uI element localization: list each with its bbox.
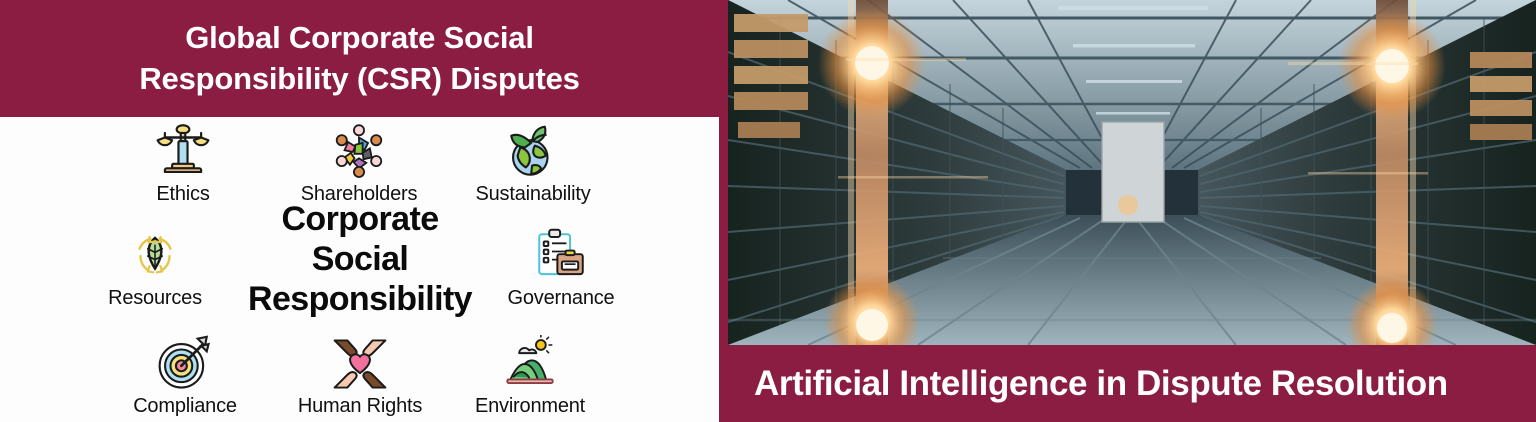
csr-center-line-3: Responsibility: [205, 279, 515, 319]
hills-sun-icon: [455, 335, 605, 393]
csr-node-resources: Resources: [80, 227, 230, 310]
csr-node-label: Sustainability: [458, 183, 608, 206]
csr-node-label: Shareholders: [284, 183, 434, 206]
csr-node-governance: Governance: [486, 227, 636, 310]
ai-title-banner: Artificial Intelligence in Dispute Resol…: [738, 345, 1536, 422]
csr-node-label: Compliance: [110, 395, 260, 418]
globe-leaf-icon: [458, 123, 608, 181]
csr-node-label: Resources: [80, 287, 230, 310]
csr-title-line-2: Responsibility (CSR) Disputes: [139, 61, 579, 96]
csr-center-label: Corporate Social Responsibility: [205, 199, 515, 319]
csr-node-sustainability: Sustainability: [458, 123, 608, 206]
csr-node-ethics: Ethics: [108, 123, 258, 206]
csr-node-compliance: Compliance: [110, 335, 260, 418]
csr-center-line-2: Social: [205, 239, 515, 279]
ai-panel: Artificial Intelligence in Dispute Resol…: [719, 0, 1536, 422]
csr-node-label: Ethics: [108, 183, 258, 206]
csr-title-banner: Global Corporate Social Responsibility (…: [0, 0, 719, 117]
target-arrow-icon: [110, 335, 260, 393]
csr-title: Global Corporate Social Responsibility (…: [125, 18, 593, 100]
csr-node-environment: Environment: [455, 335, 605, 418]
balance-scale-icon: [108, 123, 258, 181]
csr-node-label: Environment: [455, 395, 605, 418]
csr-node-label: Human Rights: [285, 395, 435, 418]
csr-infographic: Corporate Social Responsibility: [0, 117, 719, 422]
leaf-recycle-icon: [80, 227, 230, 285]
csr-node-humanrights: Human Rights: [285, 335, 435, 418]
csr-node-shareholders: Shareholders: [284, 123, 434, 206]
ai-title: Artificial Intelligence in Dispute Resol…: [738, 364, 1448, 404]
csr-title-line-1: Global Corporate Social: [185, 20, 534, 55]
csr-panel: Global Corporate Social Responsibility (…: [0, 0, 719, 422]
data-center-corridor-photo: [728, 0, 1536, 345]
people-circle-icon: [284, 123, 434, 181]
clipboard-briefcase-icon: [486, 227, 636, 285]
slide-root: Global Corporate Social Responsibility (…: [0, 0, 1536, 422]
hands-heart-icon: [285, 335, 435, 393]
csr-node-label: Governance: [486, 287, 636, 310]
